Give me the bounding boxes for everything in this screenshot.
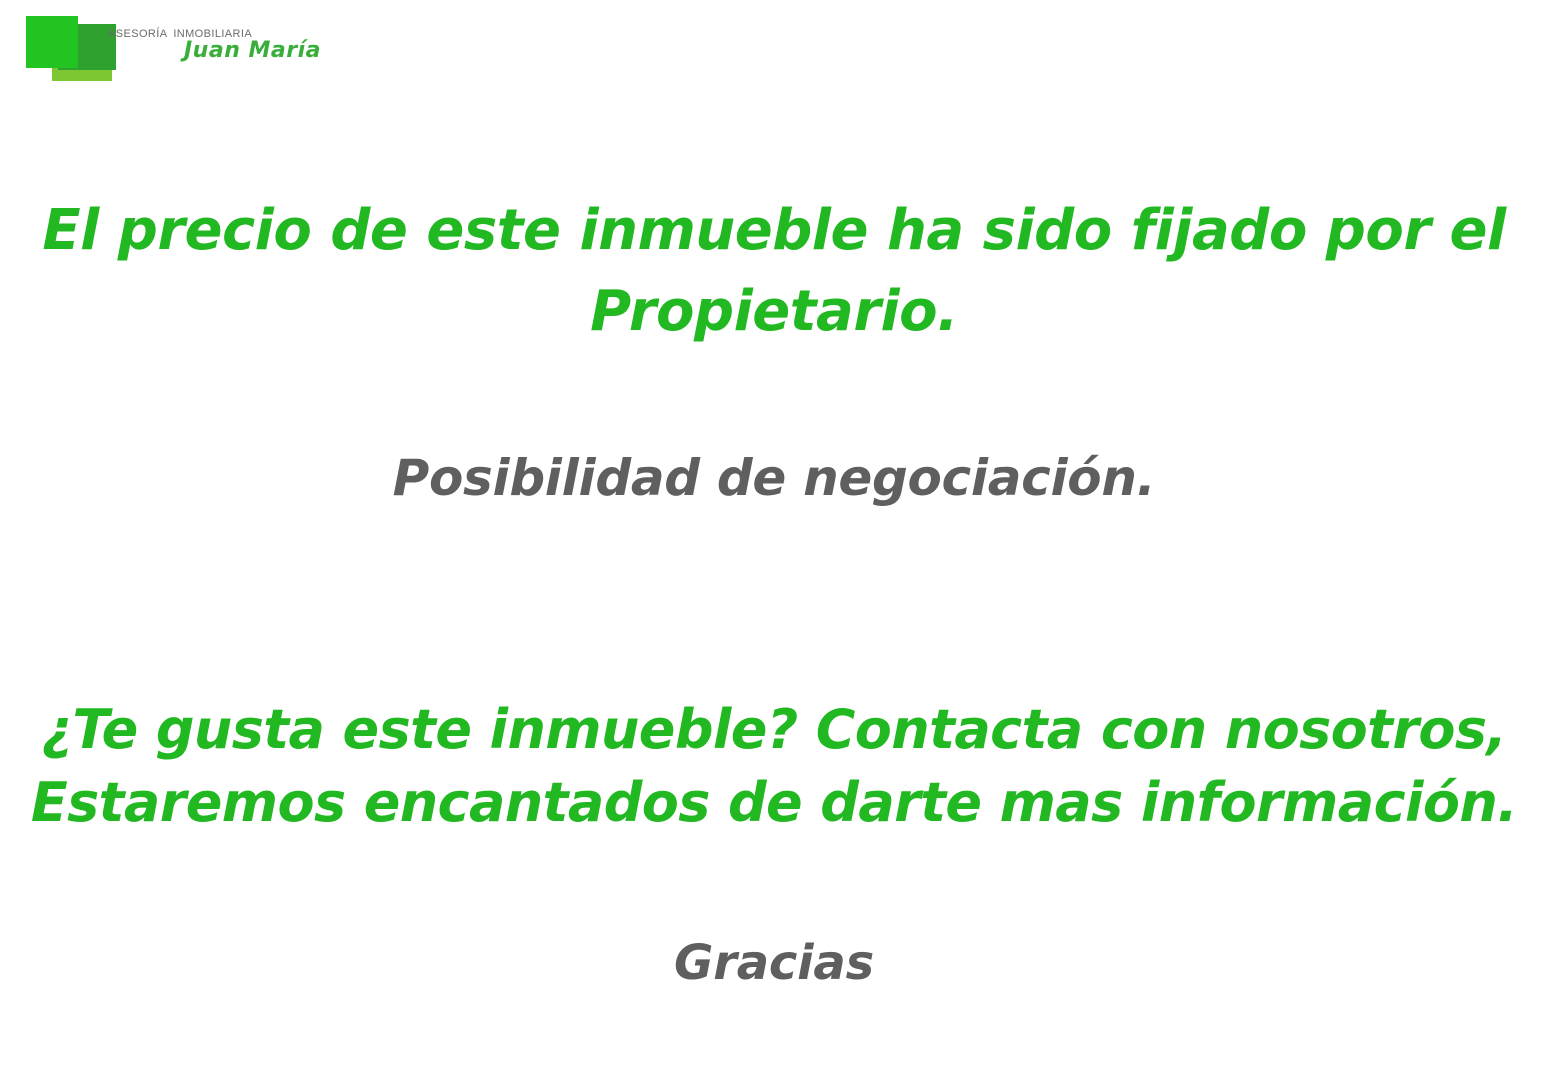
contact-call-to-action-line-1: ¿Te gusta este inmueble? Contacta con no… (0, 702, 1548, 759)
logo-tagline-first: ASESORÍA (108, 28, 167, 40)
contact-call-to-action-line-2: Estaremos encantados de darte mas inform… (0, 775, 1548, 832)
price-statement-line-1: El precio de este inmueble ha sido fijad… (0, 202, 1548, 261)
logo-company-name: Juan María (184, 38, 321, 64)
logo-square-bright-green-icon (26, 16, 78, 68)
logo-text-group: ASESORÍA INMOBILIARIA Juan María (108, 28, 363, 88)
company-logo: ASESORÍA INMOBILIARIA Juan María (8, 6, 368, 92)
negotiation-statement: Posibilidad de negociación. (0, 452, 1548, 505)
price-statement-line-2: Propietario. (0, 283, 1548, 342)
slide-canvas: ASESORÍA INMOBILIARIA Juan María El prec… (0, 0, 1548, 1080)
logo-mark-squares-icon (8, 6, 100, 88)
thanks-message: Gracias (0, 938, 1548, 988)
